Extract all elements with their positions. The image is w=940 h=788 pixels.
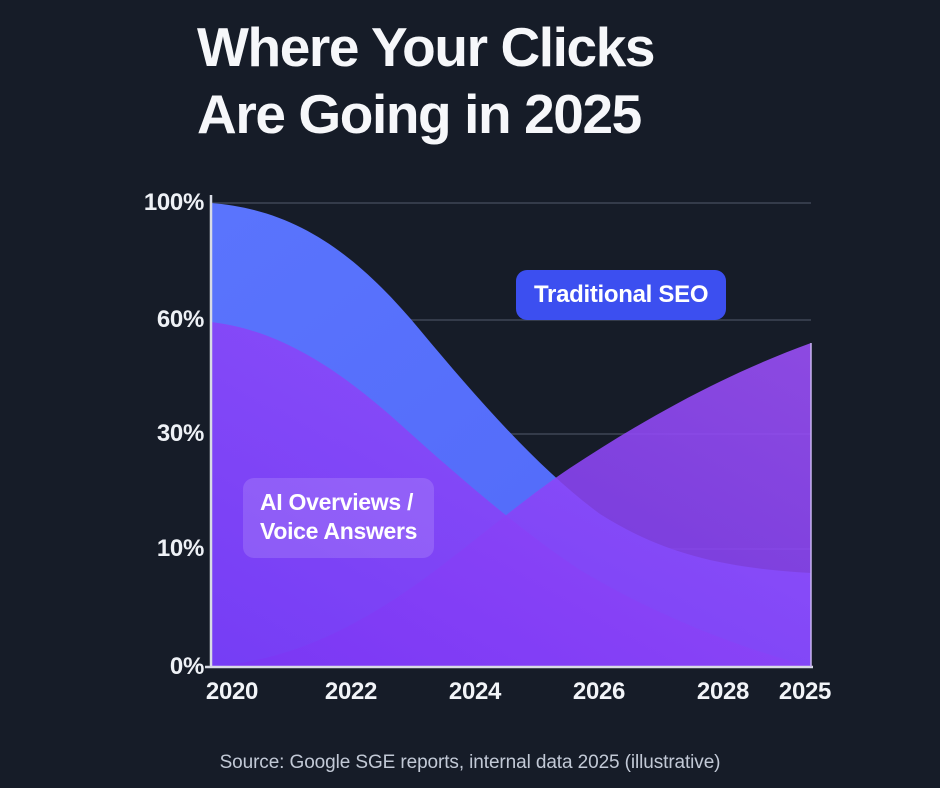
series-label-ai-overviews: AI Overviews / Voice Answers [243, 478, 434, 558]
x-axis-tick-labels: 2020 2022 2024 2026 2028 2025 [0, 678, 940, 718]
x-tick-2020: 2020 [206, 678, 258, 706]
area-chart: 100% 60% 30% 10% 0% 2020 2022 2024 2026 … [0, 0, 940, 720]
source-caption: Source: Google SGE reports, internal dat… [0, 752, 940, 774]
x-tick-2028: 2028 [697, 678, 749, 706]
x-tick-2024: 2024 [449, 678, 501, 706]
x-tick-2026: 2026 [573, 678, 625, 706]
infographic-canvas: Where Your Clicks Are Going in 2025 [0, 0, 940, 788]
chart-plot-svg [0, 0, 940, 720]
x-tick-2022: 2022 [325, 678, 377, 706]
series-label-traditional-seo: Traditional SEO [516, 270, 726, 320]
x-tick-2025: 2025 [779, 678, 831, 706]
